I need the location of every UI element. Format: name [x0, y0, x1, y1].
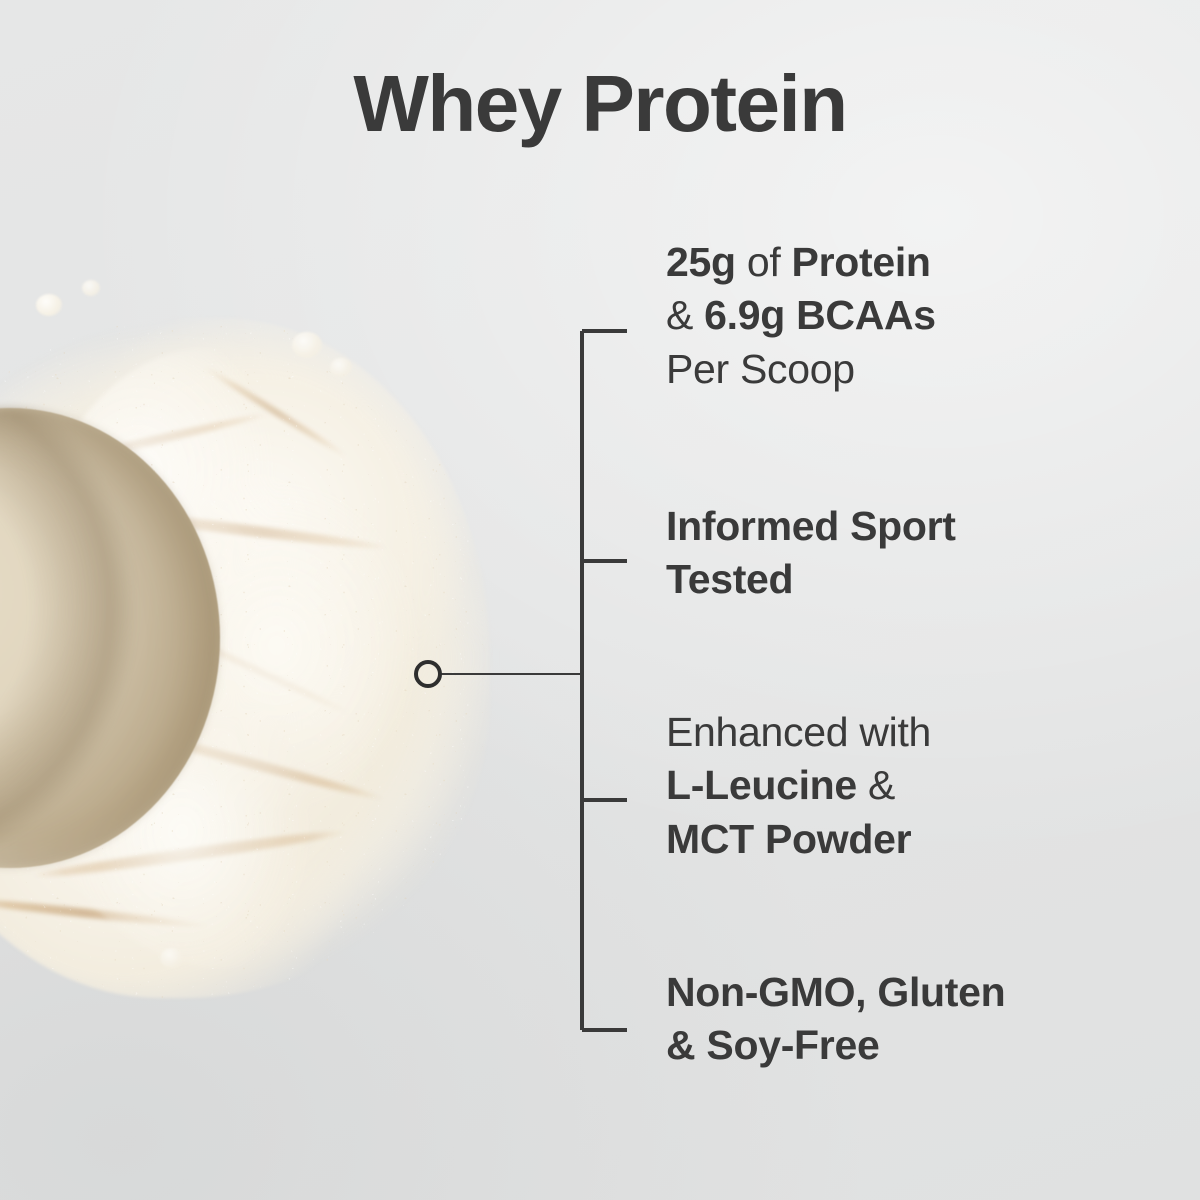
callout-line: Informed Sport [666, 500, 956, 553]
callout-leucine-mct: Enhanced withL-Leucine &MCT Powder [666, 706, 931, 866]
callout-line: Non-GMO, Gluten [666, 966, 1005, 1019]
callout-text-run: 6.9g BCAAs [704, 292, 936, 338]
callout-line: Enhanced with [666, 706, 931, 759]
callout-text-run: Protein [792, 239, 931, 285]
callout-line: L-Leucine & [666, 759, 931, 812]
infographic-canvas: Whey Protein 25g of Protein& 6.9g BCAAsP… [0, 0, 1200, 1200]
callout-text-run: MCT Powder [666, 816, 911, 862]
callout-line: Per Scoop [666, 343, 936, 396]
callout-text-run: Informed Sport [666, 503, 956, 549]
callout-text-run: & [857, 762, 895, 808]
callout-line: MCT Powder [666, 813, 931, 866]
callout-free-from: Non-GMO, Gluten& Soy-Free [666, 966, 1005, 1073]
leader-line-svg [0, 0, 1200, 1200]
callout-text-run: Per Scoop [666, 346, 855, 392]
callout-line: 25g of Protein [666, 236, 936, 289]
callout-text-run: L-Leucine [666, 762, 857, 808]
callout-line: Tested [666, 553, 956, 606]
callout-leader-lines [0, 0, 1200, 1200]
callout-text-run: Non-GMO, Gluten [666, 969, 1005, 1015]
powder-anchor-circle [416, 662, 440, 686]
callout-text-run: & [666, 292, 704, 338]
callout-text-run: Tested [666, 556, 793, 602]
callout-text-run: Enhanced with [666, 709, 931, 755]
callout-informed-sport: Informed SportTested [666, 500, 956, 607]
callout-text-run: & Soy-Free [666, 1022, 879, 1068]
callout-line: & Soy-Free [666, 1019, 1005, 1072]
callout-protein-bcaa: 25g of Protein& 6.9g BCAAsPer Scoop [666, 236, 936, 396]
callout-text-run: 25g [666, 239, 736, 285]
callout-text-run: of [736, 239, 792, 285]
callout-line: & 6.9g BCAAs [666, 289, 936, 342]
